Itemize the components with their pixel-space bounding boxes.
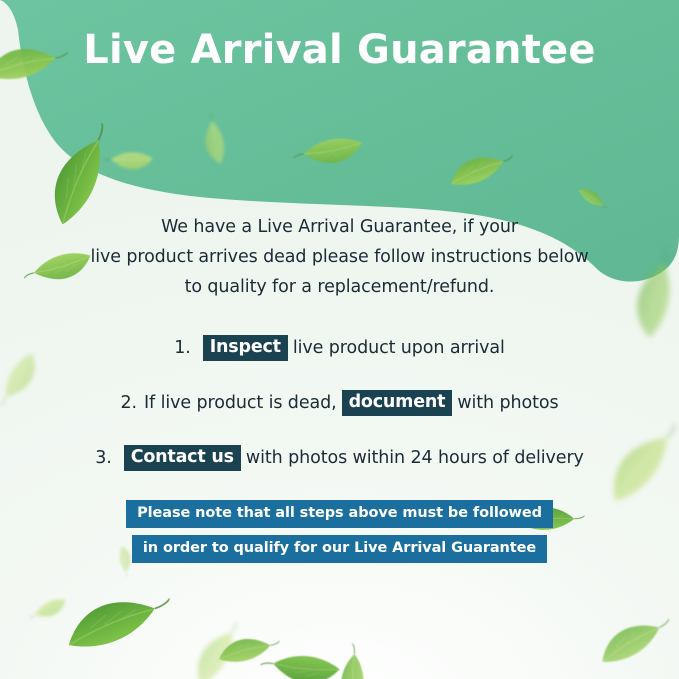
step-highlight-document: document — [342, 390, 453, 416]
step-highlight-contact-us: Contact us — [124, 445, 241, 471]
intro-line-1: We have a Live Arrival Guarantee, if you… — [0, 212, 679, 242]
step-pre-text-2: If live product is dead, — [144, 393, 337, 413]
intro-line-3: to quality for a replacement/refund. — [0, 272, 679, 302]
intro-paragraph: We have a Live Arrival Guarantee, if you… — [0, 212, 679, 302]
footer-note-banner: Please note that all steps above must be… — [0, 500, 679, 563]
note-bar-line-2: in order to qualify for our Live Arrival… — [132, 535, 547, 563]
step-number-1: 1. — [174, 338, 191, 358]
step-number-2: 2. — [121, 393, 138, 413]
step-highlight-inspect: Inspect — [203, 335, 288, 361]
poster-content: We have a Live Arrival Guarantee, if you… — [0, 0, 679, 679]
step-item-2: 2. If live product is dead, document wit… — [0, 375, 679, 430]
instruction-steps-list: 1. Inspect live product upon arrival 2. … — [0, 320, 679, 485]
step-post-text-1: live product upon arrival — [293, 338, 505, 358]
step-post-text-3: with photos within 24 hours of delivery — [246, 448, 584, 468]
live-arrival-guarantee-poster: Live Arrival Guarantee — [0, 0, 679, 679]
step-item-3: 3. Contact us with photos within 24 hour… — [0, 430, 679, 485]
step-post-text-2: with photos — [457, 393, 558, 413]
step-number-3: 3. — [95, 448, 112, 468]
note-bar-line-1: Please note that all steps above must be… — [126, 500, 553, 528]
intro-line-2: live product arrives dead please follow … — [0, 242, 679, 272]
step-item-1: 1. Inspect live product upon arrival — [0, 320, 679, 375]
